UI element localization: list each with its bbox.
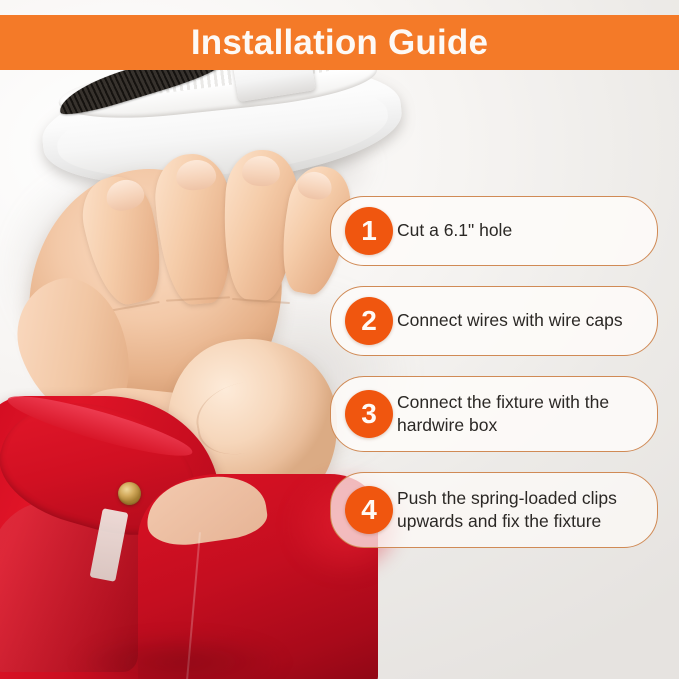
step-callout-2[interactable]: 2 Connect wires with wire caps bbox=[330, 286, 658, 356]
step-text-4: Push the spring-loaded clips upwards and… bbox=[397, 487, 643, 533]
installation-guide-page: Installation Guide 1 Cut a 6.1" hole 2 C… bbox=[0, 0, 679, 679]
shirt-shadow bbox=[30, 622, 330, 679]
step-number-badge-1: 1 bbox=[345, 207, 393, 255]
step-text-2: Connect wires with wire caps bbox=[397, 309, 623, 332]
step-callout-1[interactable]: 1 Cut a 6.1" hole bbox=[330, 196, 658, 266]
step-text-3: Connect the fixture with the hardwire bo… bbox=[397, 391, 643, 437]
step-number-badge-2: 2 bbox=[345, 297, 393, 345]
step-list: 1 Cut a 6.1" hole 2 Connect wires with w… bbox=[330, 196, 660, 568]
step-callout-3[interactable]: 3 Connect the fixture with the hardwire … bbox=[330, 376, 658, 452]
header-banner: Installation Guide bbox=[0, 15, 679, 70]
step-number-badge-3: 3 bbox=[345, 390, 393, 438]
page-title: Installation Guide bbox=[191, 25, 488, 60]
gold-snap-button bbox=[118, 482, 141, 505]
step-callout-4[interactable]: 4 Push the spring-loaded clips upwards a… bbox=[330, 472, 658, 548]
step-text-1: Cut a 6.1" hole bbox=[397, 219, 512, 242]
step-number-badge-4: 4 bbox=[345, 486, 393, 534]
